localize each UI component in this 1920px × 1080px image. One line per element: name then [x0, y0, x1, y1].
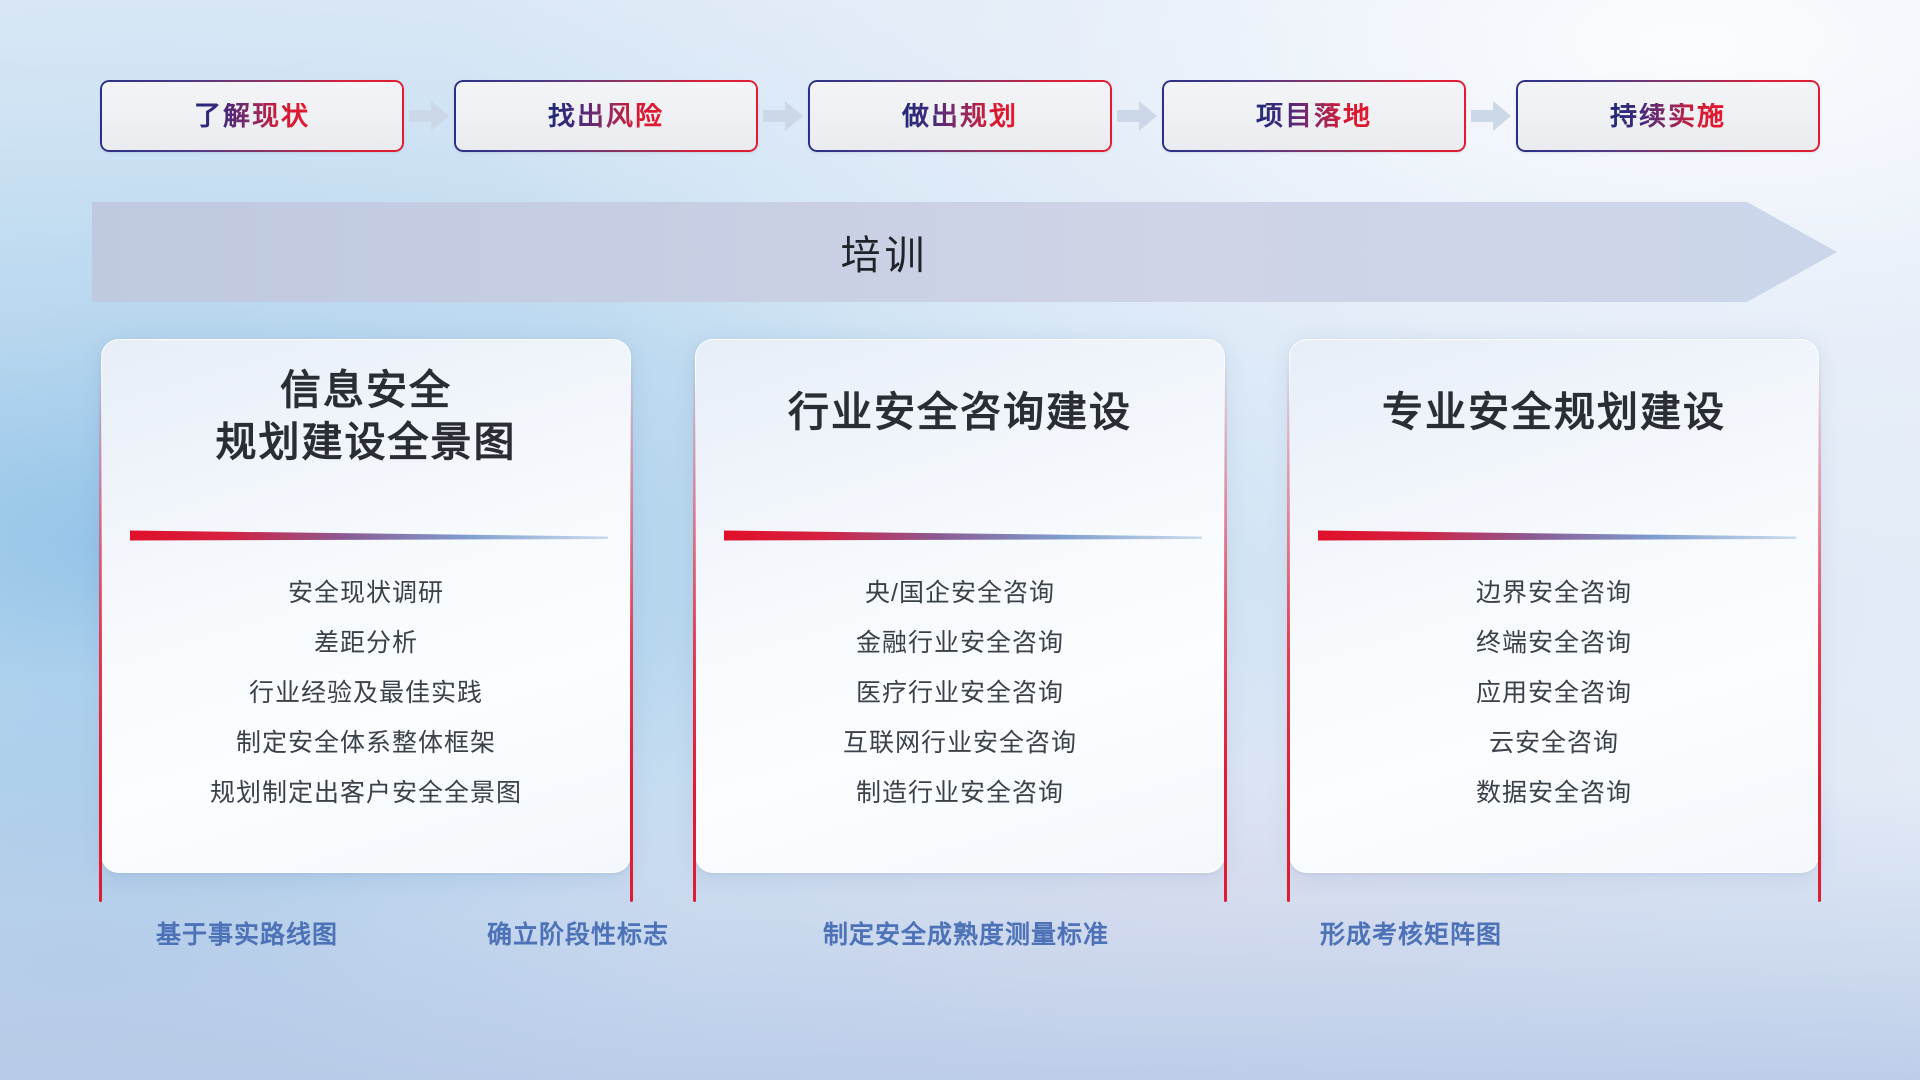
list-item: 应用安全咨询: [1476, 668, 1632, 718]
step-label: 项目落地: [1256, 103, 1372, 130]
step-label: 持续实施: [1610, 103, 1726, 130]
card-row: 信息安全 规划建设全景图 安全现状调研 差距分析 行业经验及最佳实践: [0, 339, 1920, 879]
card-list: 央/国企安全咨询 金融行业安全咨询 医疗行业安全咨询 互联网行业安全咨询 制造行…: [696, 568, 1224, 818]
service-card-3[interactable]: 专业安全规划建设 边界安全咨询 终端安全咨询 应用安全咨询 云: [1289, 339, 1819, 873]
step-arrow-separator-4: [1466, 80, 1516, 152]
card-list: 安全现状调研 差距分析 行业经验及最佳实践 制定安全体系整体框架 规划制定出客户…: [102, 568, 630, 818]
bottom-label-1: 基于事实路线图: [156, 915, 338, 951]
list-item: 云安全咨询: [1489, 718, 1619, 768]
list-item: 央/国企安全咨询: [865, 568, 1055, 618]
bottom-label-3: 制定安全成熟度测量标准: [823, 915, 1109, 951]
list-item: 差距分析: [314, 618, 418, 668]
step-chip-5[interactable]: 持续实施: [1516, 80, 1820, 152]
list-item: 安全现状调研: [288, 568, 444, 618]
card-accent-edge-right: [630, 366, 633, 902]
bottom-label-row: 基于事实路线图 确立阶段性标志 制定安全成熟度测量标准 形成考核矩阵图: [0, 915, 1920, 959]
divider-wedge-icon: [130, 528, 608, 542]
divider-wedge-icon: [1318, 528, 1796, 542]
list-item: 制造行业安全咨询: [856, 768, 1064, 818]
card-divider: [724, 528, 1202, 542]
card-divider: [1318, 528, 1796, 542]
card-accent-edge-right: [1818, 366, 1821, 902]
banner-label-wrap: 培训: [92, 202, 1837, 302]
card-divider: [130, 528, 608, 542]
card-title: 信息安全 规划建设全景图: [102, 364, 630, 469]
step-chip-3[interactable]: 做出规划: [808, 80, 1112, 152]
step-chip-1[interactable]: 了解现状: [100, 80, 404, 152]
process-step-row: 了解现状 找出风险 做出规划 项目落地 持续实施: [0, 78, 1920, 154]
step-arrow-separator-3: [1112, 80, 1162, 152]
list-item: 规划制定出客户安全全景图: [210, 768, 522, 818]
step-chip-2[interactable]: 找出风险: [454, 80, 758, 152]
step-arrow-separator-1: [404, 80, 454, 152]
divider-wedge-icon: [724, 528, 1202, 542]
list-item: 终端安全咨询: [1476, 618, 1632, 668]
card-accent-edge-right: [1224, 366, 1227, 902]
list-item: 互联网行业安全咨询: [843, 718, 1077, 768]
step-label: 找出风险: [548, 103, 664, 130]
service-card-2[interactable]: 行业安全咨询建设 央/国企安全咨询 金融行业安全咨询 医疗行业安全咨询: [695, 339, 1225, 873]
card-title: 行业安全咨询建设: [696, 386, 1224, 438]
service-card-1[interactable]: 信息安全 规划建设全景图 安全现状调研 差距分析 行业经验及最佳实践: [101, 339, 631, 873]
card-title: 专业安全规划建设: [1290, 386, 1818, 438]
bottom-label-4: 形成考核矩阵图: [1320, 915, 1502, 951]
list-item: 边界安全咨询: [1476, 568, 1632, 618]
list-item: 医疗行业安全咨询: [856, 668, 1064, 718]
list-item: 制定安全体系整体框架: [236, 718, 496, 768]
list-item: 金融行业安全咨询: [856, 618, 1064, 668]
step-chip-4[interactable]: 项目落地: [1162, 80, 1466, 152]
step-arrow-separator-2: [758, 80, 808, 152]
banner-label: 培训: [841, 223, 929, 281]
card-list: 边界安全咨询 终端安全咨询 应用安全咨询 云安全咨询 数据安全咨询: [1290, 568, 1818, 818]
list-item: 数据安全咨询: [1476, 768, 1632, 818]
step-label: 了解现状: [194, 103, 310, 130]
bottom-label-2: 确立阶段性标志: [487, 915, 669, 951]
training-banner: 培训: [92, 202, 1837, 302]
step-label: 做出规划: [902, 103, 1018, 130]
list-item: 行业经验及最佳实践: [249, 668, 483, 718]
